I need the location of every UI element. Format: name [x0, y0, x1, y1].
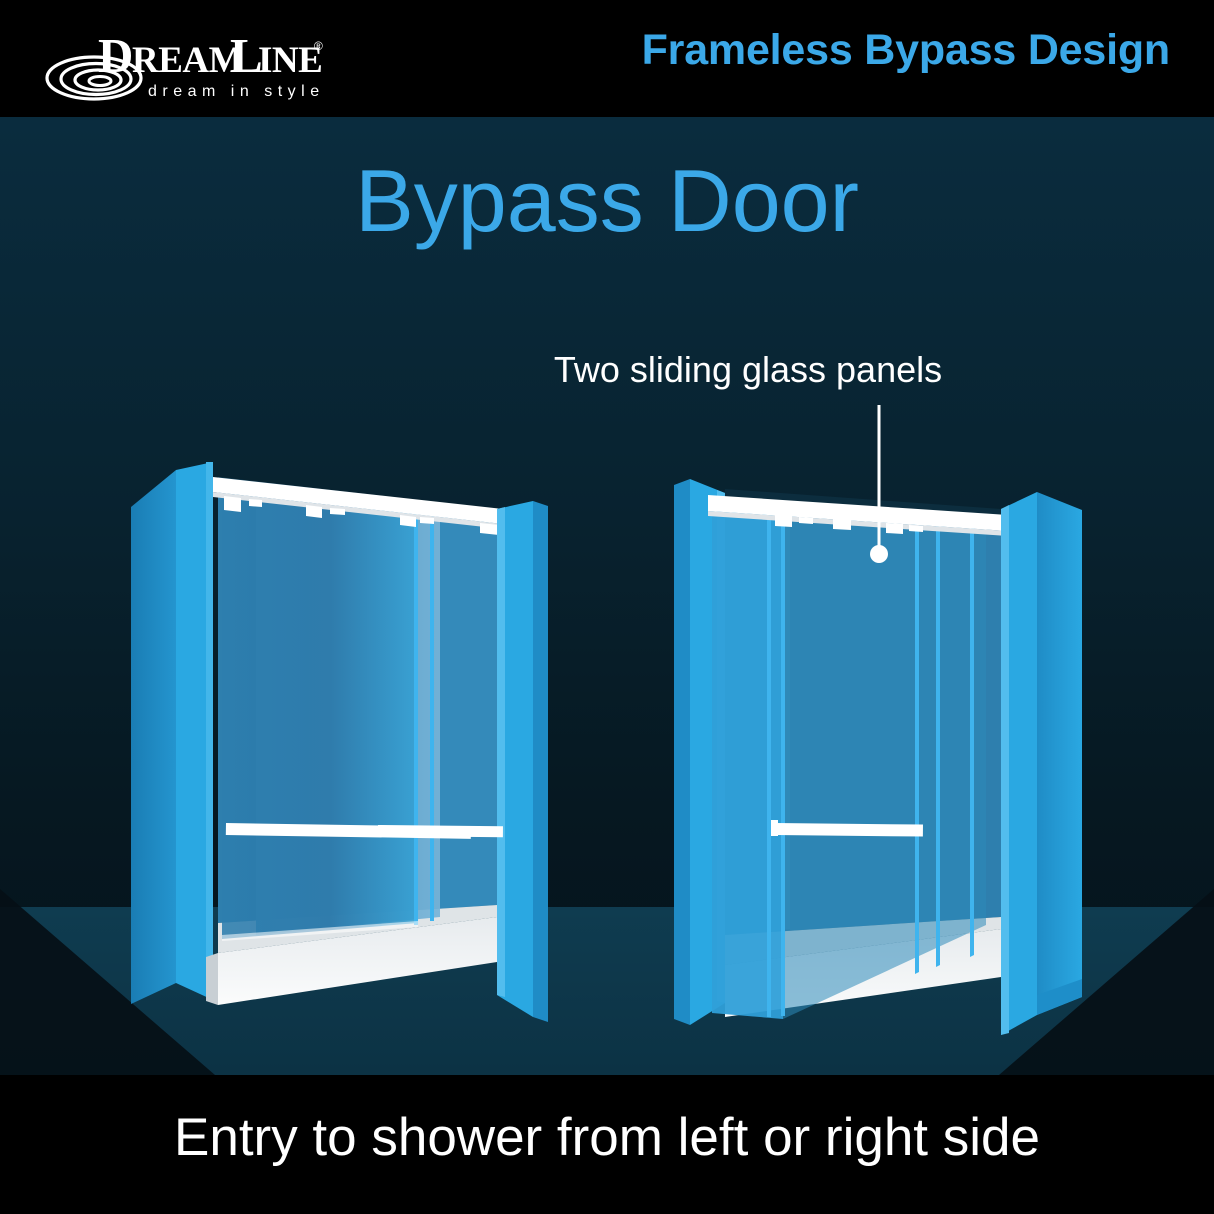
left-enclosure-glass-edge-a	[414, 511, 418, 925]
product-info-graphic: Bypass Door Two sliding glass panels D R…	[0, 0, 1214, 1214]
right-enclosure-glass-edge-d	[936, 520, 940, 967]
page-title: Bypass Door	[0, 157, 1214, 245]
right-enclosure-right-wall-panel	[1037, 492, 1082, 1015]
left-enclosure-left-pilaster-edge	[206, 462, 213, 1000]
right-enclosure-glass-edge-a	[767, 504, 771, 1017]
left-enclosure-left-wall-panel	[131, 470, 176, 1004]
right-enclosure-glass-edge-e	[970, 523, 974, 957]
svg-text:INE: INE	[258, 40, 322, 81]
left-enclosure-handle-rear	[378, 825, 503, 837]
left-enclosure-glass-panel-front	[222, 497, 418, 939]
left-enclosure-roller-bracket-4	[330, 508, 345, 515]
svg-text:dream in style: dream in style	[148, 83, 325, 100]
svg-text:D: D	[98, 28, 132, 83]
left-enclosure-right-pilaster-edge	[497, 507, 505, 997]
right-enclosure-roller-bracket-1	[775, 515, 792, 527]
header-title: Frameless Bypass Design	[642, 26, 1170, 75]
header-bar: D REAM L INE ® dream in style Frameless …	[0, 0, 1214, 117]
left-enclosure-roller-bracket-7	[480, 523, 499, 535]
right-enclosure-roller-bracket-4	[886, 523, 903, 534]
right-enclosure-roller-bracket-2	[799, 517, 813, 524]
right-enclosure-glass-panel-front	[712, 498, 783, 1019]
right-enclosure-left-wall-panel	[674, 479, 690, 1025]
svg-text:®: ®	[314, 39, 323, 53]
callout-label: Two sliding glass panels	[0, 352, 1214, 388]
right-enclosure-glass-edge-b	[781, 506, 785, 1016]
callout-label-text: Two sliding glass panels	[554, 349, 942, 390]
right-enclosure-glass-edge-c	[915, 518, 919, 974]
right-enclosure-roller-bracket-5	[909, 525, 923, 532]
brand-logo[interactable]: D REAM L INE ® dream in style	[40, 22, 370, 102]
left-enclosure-glass-edge-b	[430, 513, 434, 921]
left-enclosure-roller-bracket-5	[400, 515, 416, 527]
left-enclosure-right-wall-panel	[533, 501, 548, 1022]
left-enclosure-roller-bracket-3	[306, 505, 322, 518]
footer-caption: Entry to shower from left or right side	[0, 1111, 1214, 1164]
svg-text:L: L	[230, 28, 262, 83]
left-shower-enclosure	[131, 462, 548, 1022]
left-enclosure-base-side	[206, 953, 218, 1005]
callout-leader-dot	[870, 545, 888, 563]
left-enclosure-roller-bracket-6	[420, 517, 434, 524]
right-enclosure-handle	[775, 823, 923, 837]
left-enclosure-interior-right-wall	[440, 509, 497, 923]
right-enclosure-roller-bracket-3	[833, 519, 851, 530]
right-enclosure-handle-end-cap	[771, 820, 778, 836]
footer-bar: Entry to shower from left or right side	[0, 1075, 1214, 1214]
left-enclosure-roller-bracket-1	[224, 496, 241, 512]
right-enclosure-right-pilaster-edge	[1001, 505, 1009, 1035]
left-enclosure-roller-bracket-2	[249, 499, 262, 507]
svg-text:REAM: REAM	[132, 40, 243, 81]
shower-scene	[0, 117, 1214, 1075]
